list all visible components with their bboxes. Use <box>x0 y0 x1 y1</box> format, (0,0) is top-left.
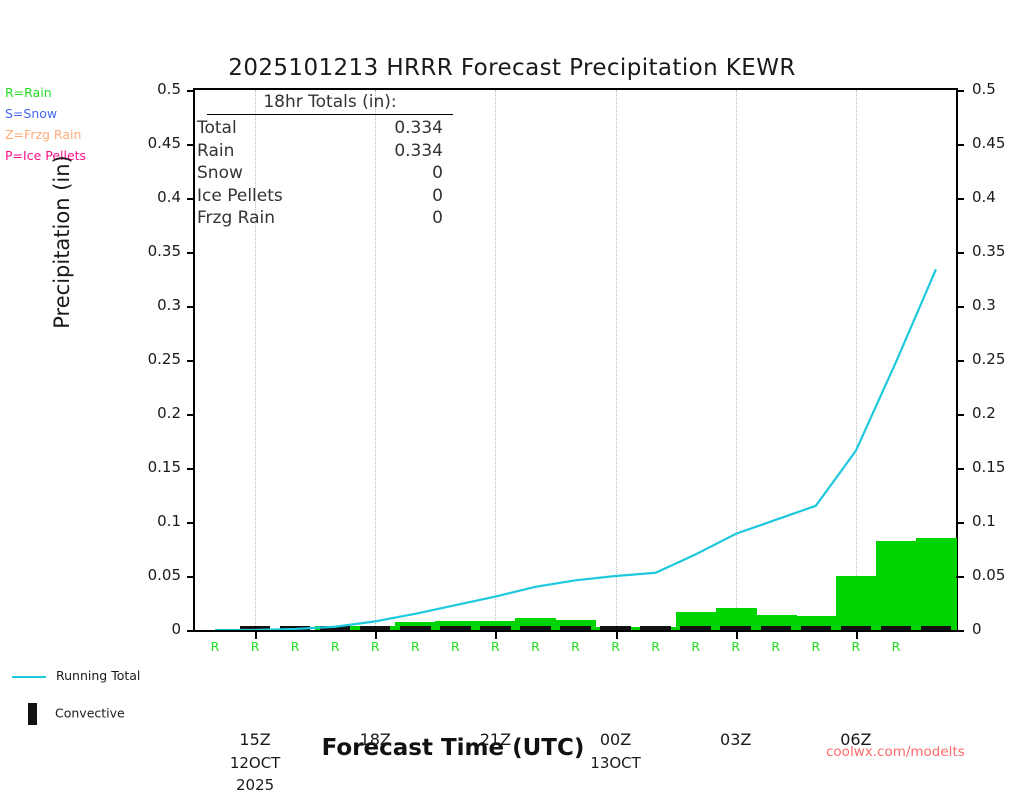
totals-row: Frzg Rain0 <box>193 207 461 230</box>
running-total-line-swatch <box>12 676 46 678</box>
totals-row-value: 0 <box>432 162 443 185</box>
legend-running-total: Running Total <box>12 668 140 683</box>
y-axis-title: Precipitation (in) <box>50 112 74 372</box>
y-tick-label: 0 <box>133 620 181 638</box>
chart-page: 2025101213 HRRR Forecast Precipitation K… <box>0 0 1024 768</box>
y-tick <box>187 576 195 578</box>
x-tick <box>736 630 738 639</box>
y-tick-label: 0.2 <box>133 404 181 422</box>
x-tick-label: 15Z <box>210 730 300 749</box>
ptype-legend-item-2: Z=Frzg Rain <box>5 124 145 145</box>
ptype-legend-item-1: S=Snow <box>5 103 145 124</box>
y-tick-label: 0.4 <box>972 188 1020 206</box>
x-tick <box>375 630 377 639</box>
y-tick <box>187 252 195 254</box>
x-tick <box>255 630 257 639</box>
y-tick <box>956 576 964 578</box>
ptype-legend-item-0: R=Rain <box>5 82 145 103</box>
y-tick <box>187 630 195 632</box>
totals-row: Total0.334 <box>193 117 461 140</box>
x-tick-label: 03Z <box>691 730 781 749</box>
ptype-label-3: R <box>315 639 355 654</box>
totals-header: 18hr Totals (in): <box>207 92 453 115</box>
x-date-label: 12OCT <box>200 754 310 772</box>
x-tick-label: 18Z <box>330 730 420 749</box>
y-tick <box>956 90 964 92</box>
ptype-label-6: R <box>435 639 475 654</box>
y-tick <box>187 306 195 308</box>
ptype-label-0: R <box>195 639 235 654</box>
y-tick-label: 0.25 <box>972 350 1020 368</box>
y-tick <box>956 306 964 308</box>
y-tick-label: 0.25 <box>133 350 181 368</box>
y-tick-label: 0.3 <box>972 296 1020 314</box>
ptype-label-13: R <box>716 639 756 654</box>
y-tick-label: 0.45 <box>133 134 181 152</box>
y-tick <box>956 468 964 470</box>
totals-row: Rain0.334 <box>193 140 461 163</box>
y-tick-label: 0.05 <box>972 566 1020 584</box>
totals-box: 18hr Totals (in): Total0.334Rain0.334Sno… <box>193 88 461 230</box>
convective-bar-swatch <box>28 703 37 725</box>
y-tick-label: 0.05 <box>133 566 181 584</box>
ptype-label-9: R <box>555 639 595 654</box>
precip-type-legend: R=RainS=SnowZ=Frzg RainP=Ice Pellets <box>5 82 145 166</box>
y-tick <box>187 414 195 416</box>
totals-row-label: Ice Pellets <box>197 185 283 208</box>
y-tick-label: 0.3 <box>133 296 181 314</box>
ptype-label-15: R <box>796 639 836 654</box>
y-tick-label: 0.45 <box>972 134 1020 152</box>
totals-row-label: Rain <box>197 140 234 163</box>
ptype-legend-item-3: P=Ice Pellets <box>5 145 145 166</box>
ptype-label-4: R <box>355 639 395 654</box>
ptype-label-5: R <box>395 639 435 654</box>
ptype-label-16: R <box>836 639 876 654</box>
x-tick-label: 21Z <box>450 730 540 749</box>
y-tick-label: 0 <box>972 620 1020 638</box>
y-tick <box>956 414 964 416</box>
ptype-label-1: R <box>235 639 275 654</box>
legend-convective: Convective <box>12 703 125 725</box>
x-tick <box>856 630 858 639</box>
y-tick-label: 0.15 <box>133 458 181 476</box>
x-tick-label: 00Z <box>571 730 661 749</box>
y-tick-label: 0.5 <box>133 80 181 98</box>
y-tick-label: 0.35 <box>972 242 1020 260</box>
y-tick-label: 0.15 <box>972 458 1020 476</box>
y-tick <box>187 468 195 470</box>
totals-row-value: 0.334 <box>394 117 443 140</box>
totals-row: Snow0 <box>193 162 461 185</box>
y-tick <box>187 522 195 524</box>
y-tick <box>956 252 964 254</box>
y-tick <box>956 360 964 362</box>
ptype-label-12: R <box>676 639 716 654</box>
legend-running-total-label: Running Total <box>56 668 140 683</box>
ptype-label-11: R <box>636 639 676 654</box>
y-tick <box>956 630 964 632</box>
totals-row-value: 0.334 <box>394 140 443 163</box>
ptype-label-10: R <box>596 639 636 654</box>
legend-convective-label: Convective <box>55 706 125 721</box>
totals-row-label: Snow <box>197 162 243 185</box>
x-date-label: 2025 <box>200 776 310 794</box>
page-title: 2025101213 HRRR Forecast Precipitation K… <box>0 55 1024 81</box>
y-tick-label: 0.35 <box>133 242 181 260</box>
totals-rows: Total0.334Rain0.334Snow0Ice Pellets0Frzg… <box>193 117 461 230</box>
y-tick <box>956 144 964 146</box>
y-tick-label: 0.1 <box>972 512 1020 530</box>
ptype-label-8: R <box>515 639 555 654</box>
ptype-label-14: R <box>756 639 796 654</box>
totals-row: Ice Pellets0 <box>193 185 461 208</box>
x-tick <box>495 630 497 639</box>
y-tick <box>956 522 964 524</box>
totals-row-value: 0 <box>432 207 443 230</box>
x-date-label: 13OCT <box>561 754 671 772</box>
y-tick-label: 0.5 <box>972 80 1020 98</box>
y-tick-label: 0.4 <box>133 188 181 206</box>
x-tick <box>616 630 618 639</box>
totals-row-label: Total <box>197 117 237 140</box>
totals-row-label: Frzg Rain <box>197 207 275 230</box>
x-tick-label: 06Z <box>811 730 901 749</box>
y-tick <box>956 198 964 200</box>
ptype-label-17: R <box>876 639 916 654</box>
y-tick-label: 0.1 <box>133 512 181 530</box>
totals-row-value: 0 <box>432 185 443 208</box>
y-tick-label: 0.2 <box>972 404 1020 422</box>
ptype-label-2: R <box>275 639 315 654</box>
ptype-label-7: R <box>475 639 515 654</box>
y-tick <box>187 360 195 362</box>
